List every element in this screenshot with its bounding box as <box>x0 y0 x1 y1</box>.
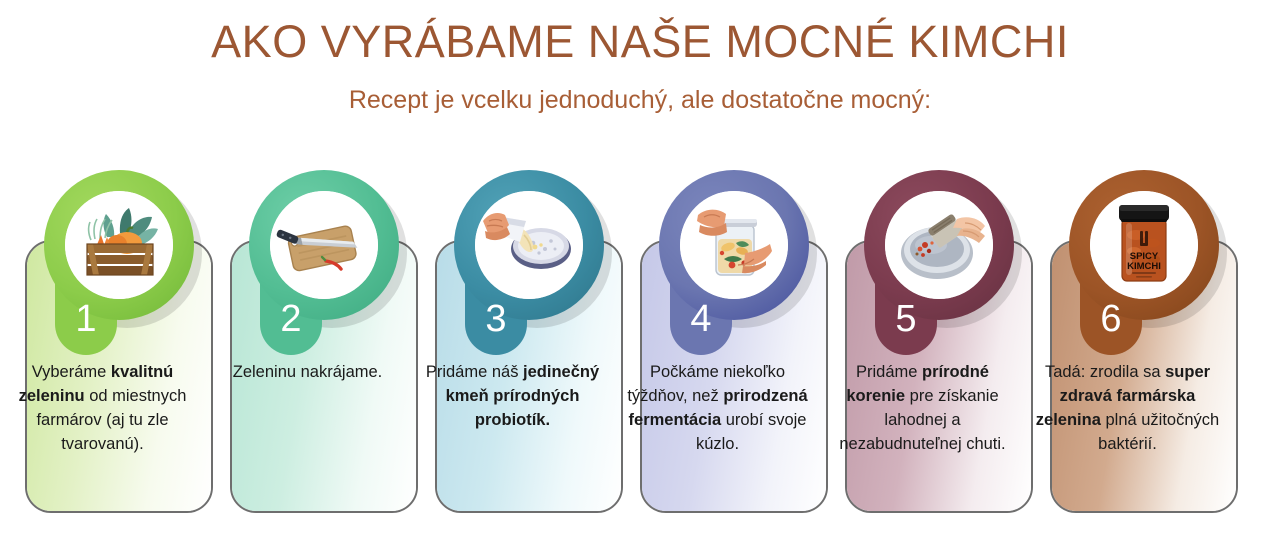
infographic-header: AKO VYRÁBAME NAŠE MOCNÉ KIMCHI Recept je… <box>0 0 1280 115</box>
step-description: Vyberáme kvalitnú zeleninu od miestnych … <box>6 360 199 456</box>
step-card-6[interactable]: SPICY KIMCHI 6 Tadá: zrodila sa super zd… <box>1025 170 1230 543</box>
process-steps: 1 Vyberáme kvalitnú zeleninu od miestnyc… <box>0 170 1280 543</box>
step-card-5[interactable]: 5 Pridáme prírodné korenie pre získanie … <box>820 170 1025 543</box>
step-description: Pridáme prírodné korenie pre získanie la… <box>826 360 1019 456</box>
page-title: AKO VYRÁBAME NAŠE MOCNÉ KIMCHI <box>0 18 1280 65</box>
step-description: Zeleninu nakrájame. <box>211 360 404 384</box>
step-description: Počkáme niekoľko týždňov, než prirodzená… <box>621 360 814 456</box>
page-subtitle: Recept je vcelku jednoduchý, ale dostato… <box>0 87 1280 115</box>
step-card-3[interactable]: 3 Pridáme náš jedinečný kmeň prírodných … <box>410 170 615 543</box>
step-card-1[interactable]: 1 Vyberáme kvalitnú zeleninu od miestnyc… <box>0 170 205 543</box>
step-description: Tadá: zrodila sa super zdravá farmárska … <box>1031 360 1224 456</box>
step-card-2[interactable]: 2 Zeleninu nakrájame. <box>205 170 410 543</box>
step-description: Pridáme náš jedinečný kmeň prírodných pr… <box>416 360 609 432</box>
step-card-4[interactable]: 4 Počkáme niekoľko týždňov, než prirodze… <box>615 170 820 543</box>
